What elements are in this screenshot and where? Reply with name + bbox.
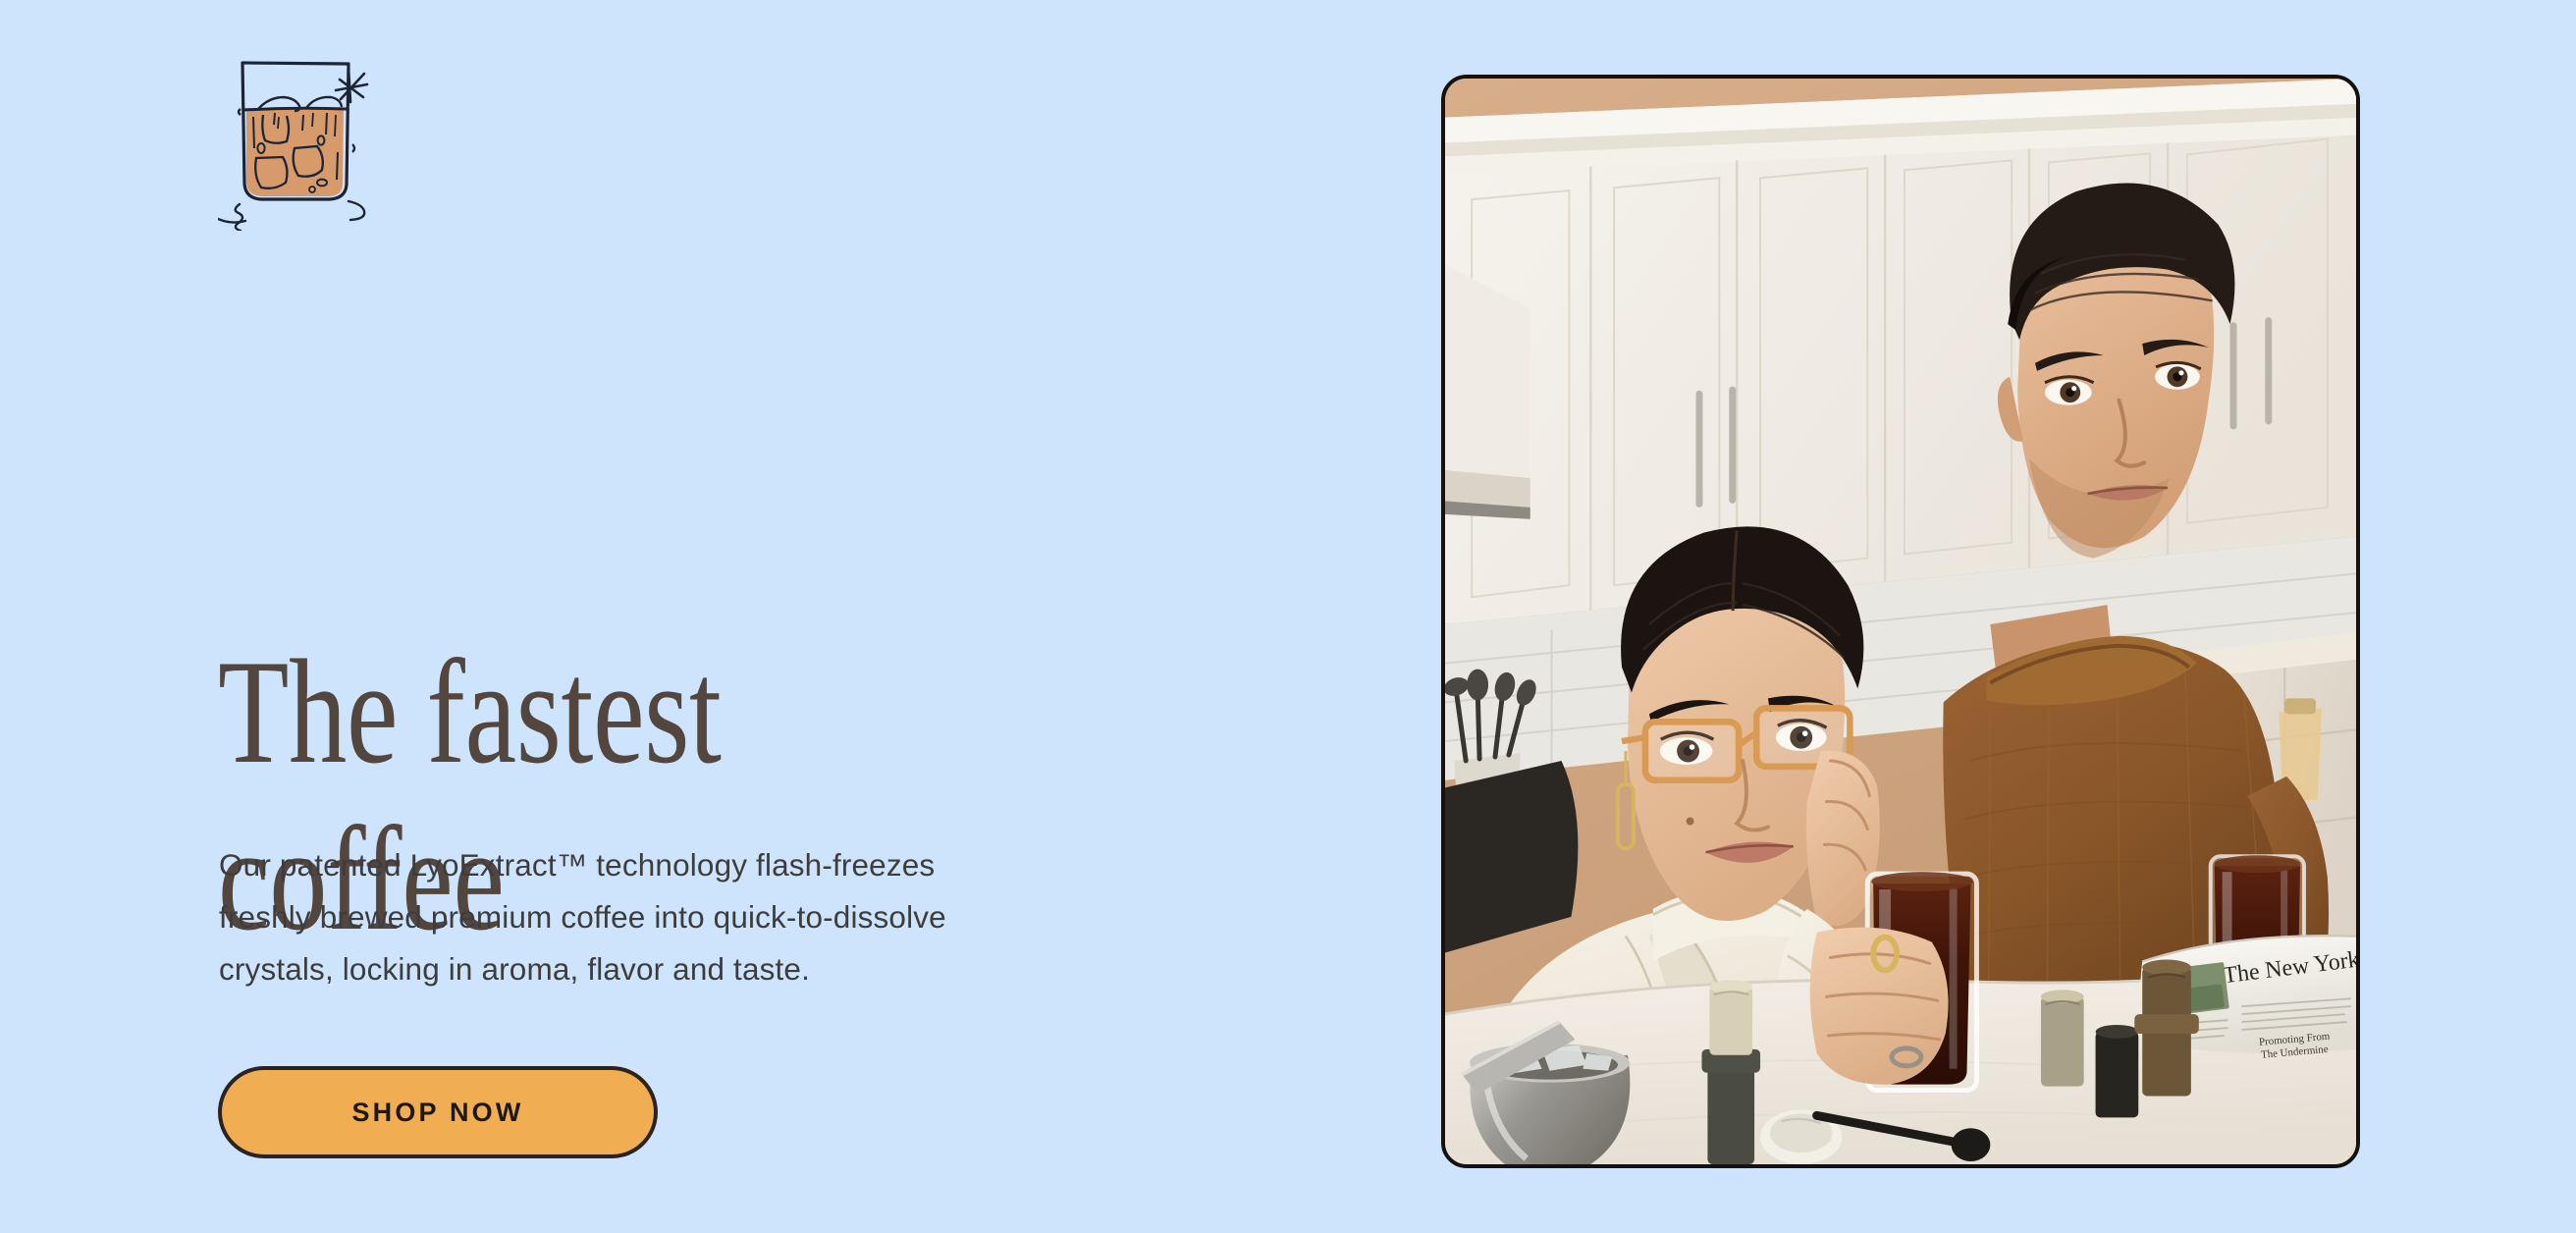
- hero-description: Our patented LyoExtract™ technology flas…: [219, 839, 1102, 995]
- hero-content-column: The fastest coffee run is the one you do…: [218, 0, 1376, 1233]
- description-line-2: freshly brewed premium coffee into quick…: [219, 891, 1102, 943]
- shop-now-button[interactable]: SHOP NOW: [218, 1066, 658, 1158]
- description-line-1: Our patented LyoExtract™ technology flas…: [219, 839, 1102, 891]
- hero-section: The fastest coffee run is the one you do…: [0, 0, 2576, 1233]
- description-line-3: crystals, locking in aroma, flavor and t…: [219, 943, 1102, 995]
- lifestyle-kitchen-photo: The New York Promoting From The Undermin…: [1441, 75, 2360, 1168]
- iced-coffee-glass-icon: [218, 54, 404, 231]
